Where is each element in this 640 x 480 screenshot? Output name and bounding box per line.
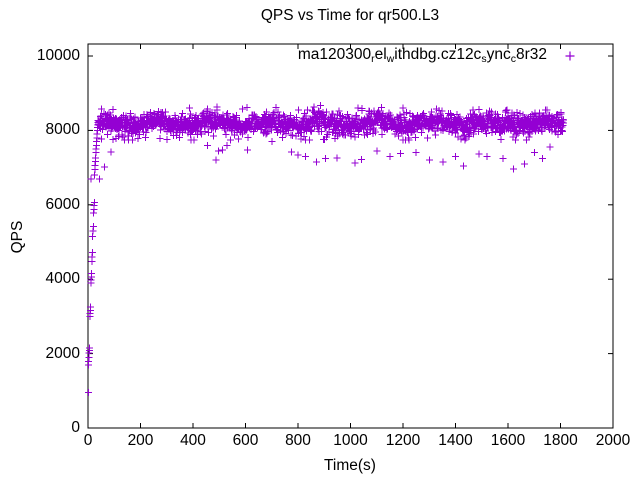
plot-canvas (0, 0, 640, 480)
axis-ticks (88, 44, 613, 428)
legend-entry-label: ma120300relwithdbg.cz12csyncc8r32 (298, 46, 547, 64)
y-tick-label: 6000 (0, 197, 80, 213)
legend-text-part: el (375, 46, 387, 63)
x-tick-label: 2000 (573, 433, 640, 449)
chart-figure: QPS vs Time for qr500.L3 Time(s) QPS 020… (0, 0, 640, 480)
y-tick-label: 10000 (0, 48, 80, 64)
data-points (85, 102, 567, 396)
legend-text-part: 8r32 (516, 46, 547, 63)
legend-text-part: ync (487, 46, 511, 63)
chart-title: QPS vs Time for qr500.L3 (30, 7, 640, 25)
legend-text-part: ithdbg.cz12c (394, 46, 481, 63)
y-tick-label: 2000 (0, 346, 80, 362)
legend-marker-icon (566, 52, 575, 61)
plot-frame (88, 44, 613, 428)
y-tick-label: 8000 (0, 122, 80, 138)
x-axis-label: Time(s) (30, 457, 640, 475)
legend-text-part: ma120300 (298, 46, 371, 63)
y-tick-label: 4000 (0, 271, 80, 287)
